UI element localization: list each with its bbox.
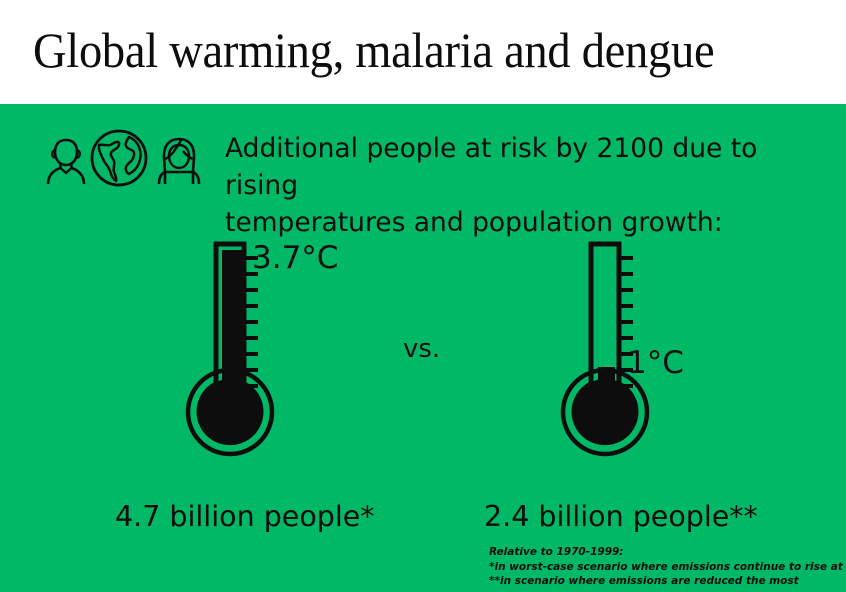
man-icon xyxy=(46,136,86,184)
title-band: Global warming, malaria and dengue xyxy=(0,0,846,104)
value-label-left: 4.7 billion people* xyxy=(115,500,375,534)
icon-row xyxy=(46,128,206,190)
infographic-root: Global warming, malaria and dengue xyxy=(0,0,846,592)
footnotes: Relative to 1970-1999: *in worst-case sc… xyxy=(489,545,846,589)
temperature-label-left: 3.7°C xyxy=(252,243,338,274)
header-description: Additional people at risk by 2100 due to… xyxy=(225,130,825,241)
header-line-1: Additional people at risk by 2100 due to… xyxy=(225,133,757,201)
footnote-double-asterisk: **in scenario where emissions are reduce… xyxy=(489,574,846,589)
footnote-baseline: Relative to 1970-1999: xyxy=(489,545,846,560)
woman-icon xyxy=(156,136,202,184)
temperature-label-right: 1°C xyxy=(627,348,684,379)
value-label-right: 2.4 billion people** xyxy=(484,500,758,534)
page-title: Global warming, malaria and dengue xyxy=(33,20,714,80)
globe-icon xyxy=(89,128,149,188)
footnote-single-asterisk: *in worst-case scenario where emissions … xyxy=(489,560,846,575)
header-line-2: temperatures and population growth: xyxy=(225,204,825,241)
vs-label: vs. xyxy=(403,334,440,364)
